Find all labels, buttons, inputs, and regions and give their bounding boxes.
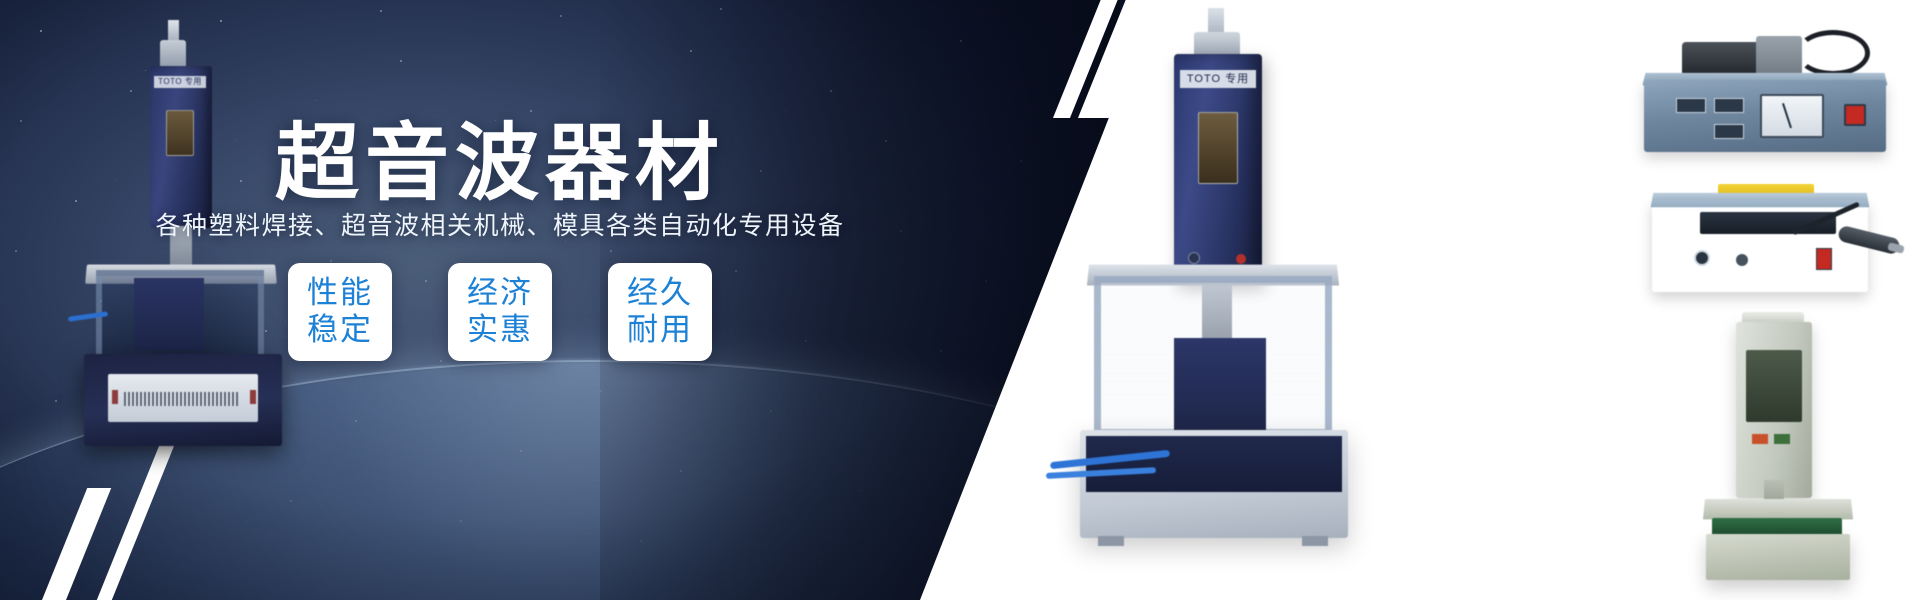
badge-line-1: 经久 [627,275,693,312]
badge-line-2: 实惠 [467,312,533,349]
generator-switch-b [1714,98,1744,113]
product-ultrasonic-generator [1630,28,1900,158]
right-machine-foot-right [1302,536,1328,546]
product-ultrasonic-welding-press [1690,322,1880,592]
right-machine-knob [1188,252,1200,264]
banner-text-block: 超音波器材 各种塑料焊接、超音波相关机械、模具各类自动化专用设备 性能 稳定 经… [0,0,1030,600]
badge-line-1: 性能 [307,275,373,312]
feature-badge-list: 性能 稳定 经济 实惠 经久 耐用 [0,263,1030,361]
banner-subtitle: 各种塑料焊接、超音波相关机械、模具各类自动化专用设备 [0,206,1030,242]
badge-line-1: 经济 [467,275,533,312]
feature-badge-performance[interactable]: 性能 稳定 [288,263,392,361]
right-machine-display-window [1198,112,1238,184]
generator-cable-coil [1796,30,1870,76]
press-base [1706,534,1850,580]
generator-switch-c [1714,124,1744,139]
right-machine-base-panel [1086,436,1342,492]
right-machine-photo: TOTO 专用 [1070,8,1360,588]
product-ultrasonic-spot-welder [1640,170,1900,310]
press-worktable [1703,499,1853,519]
generator-switch-a [1676,98,1706,113]
badge-line-2: 稳定 [307,312,373,349]
right-machine-foot-left [1098,536,1124,546]
feature-badge-durability[interactable]: 经久 耐用 [608,263,712,361]
right-machine-fixture [1174,338,1266,434]
press-control-panel [1746,350,1802,422]
press-button-a [1752,434,1768,444]
feature-badge-economy[interactable]: 经济 实惠 [448,263,552,361]
press-button-b [1774,434,1790,444]
hero-banner: TOTO 专用 超音波器材 各种塑料焊接、超音波相关机械、模具各类自动化专用设备… [0,0,1920,600]
right-machine-label: TOTO 专用 [1180,70,1256,88]
right-machine-power-light [1236,254,1246,264]
generator-analog-meter [1760,94,1824,138]
welder-power-switch [1816,248,1832,270]
badge-line-2: 耐用 [627,312,693,349]
banner-title: 超音波器材 [0,96,1030,217]
welder-knob-b [1736,254,1748,266]
welder-knob-a [1694,250,1710,266]
generator-power-switch [1844,104,1866,126]
